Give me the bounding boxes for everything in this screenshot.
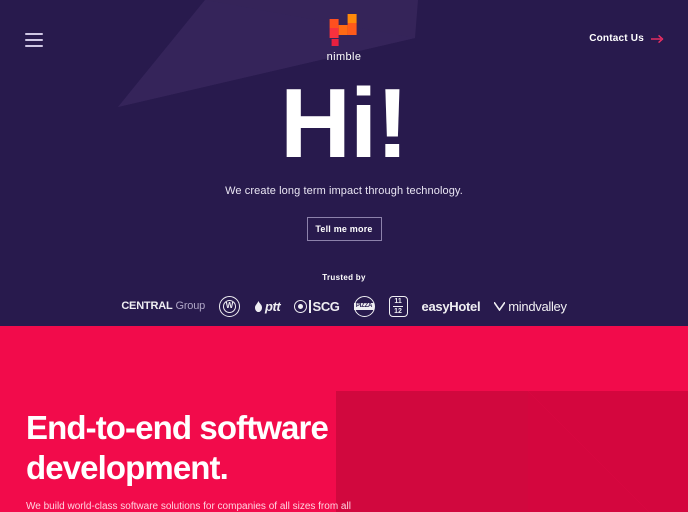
brand-name: nimble bbox=[327, 51, 362, 63]
wattanapat-badge-letter: W bbox=[223, 300, 236, 313]
central-group-light: Group bbox=[175, 300, 205, 312]
top-navigation-bar: nimble Contact Us bbox=[0, 0, 688, 80]
logo-eleven-twelve[interactable]: 11 12 bbox=[389, 294, 408, 318]
eleven-twelve-top: 11 bbox=[394, 298, 401, 305]
tell-me-more-button[interactable]: Tell me more bbox=[307, 217, 382, 241]
hero-headline: Hi! bbox=[280, 78, 408, 168]
logo-central-group[interactable]: CENTRAL Group bbox=[121, 294, 205, 318]
red-section-content: End-to-end software development. We buil… bbox=[26, 408, 356, 512]
wattanapat-badge-icon: W bbox=[219, 296, 240, 317]
scg-wordmark: SCG bbox=[313, 299, 340, 314]
mindvalley-chevron-icon bbox=[494, 302, 505, 311]
logo-the-pizza-company[interactable]: PIZZA bbox=[354, 294, 375, 318]
hamburger-menu-icon[interactable] bbox=[25, 33, 43, 47]
ptt-flame-icon bbox=[254, 301, 263, 312]
mindvalley-wordmark: mindvalley bbox=[508, 299, 566, 314]
logo-ptt[interactable]: ptt bbox=[254, 294, 280, 318]
hamburger-line bbox=[25, 45, 43, 47]
contact-us-link[interactable]: Contact Us bbox=[589, 33, 664, 44]
section-subtext: We build world-class software solutions … bbox=[26, 501, 356, 512]
pizza-wordmark: PIZZA bbox=[354, 303, 374, 310]
pizza-badge-icon: PIZZA bbox=[354, 296, 375, 317]
scg-divider bbox=[309, 300, 310, 313]
trusted-by-logo-list: CENTRAL Group W ptt bbox=[121, 294, 566, 318]
contact-us-label: Contact Us bbox=[589, 33, 644, 44]
section-heading: End-to-end software development. bbox=[26, 408, 356, 489]
arrow-right-icon bbox=[651, 34, 664, 44]
software-development-section: End-to-end software development. We buil… bbox=[0, 326, 688, 512]
eleven-twelve-bottom: 12 bbox=[394, 308, 402, 315]
landing-page: nimble Contact Us Hi! We create long ter… bbox=[0, 0, 688, 512]
logo-easyhotel[interactable]: easyHotel bbox=[422, 294, 481, 318]
central-group-bold: CENTRAL bbox=[121, 300, 172, 312]
logo-wattanapat[interactable]: W bbox=[219, 294, 240, 318]
easyhotel-wordmark: easyHotel bbox=[422, 299, 481, 314]
logo-mindvalley[interactable]: mindvalley bbox=[494, 294, 566, 318]
hero-section: nimble Contact Us Hi! We create long ter… bbox=[0, 0, 688, 326]
eleven-twelve-badge-icon: 11 12 bbox=[389, 296, 408, 317]
hamburger-line bbox=[25, 33, 43, 35]
trusted-by-label: Trusted by bbox=[322, 273, 365, 282]
brand-logo[interactable]: nimble bbox=[327, 13, 362, 63]
scg-emblem-icon bbox=[294, 300, 307, 313]
ptt-wordmark: ptt bbox=[265, 299, 280, 314]
logo-scg[interactable]: SCG bbox=[294, 294, 339, 318]
hamburger-line bbox=[25, 39, 43, 41]
hero-tagline: We create long term impact through techn… bbox=[225, 185, 463, 197]
nimble-n-logo-icon bbox=[329, 13, 359, 47]
